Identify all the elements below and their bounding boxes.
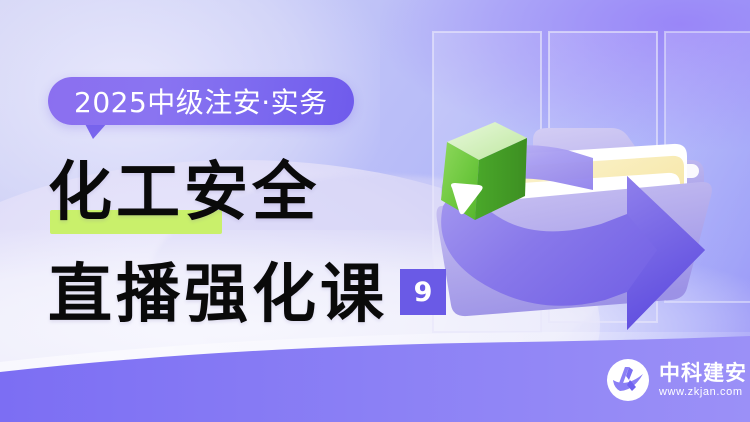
circular-emblem-icon bbox=[606, 358, 650, 402]
course-series-badge: 2025中级注安·实务 bbox=[48, 77, 354, 125]
brand-name: 中科建安 bbox=[659, 362, 747, 384]
episode-number-badge: 9 bbox=[400, 269, 446, 315]
course-series-label: 2025中级注安·实务 bbox=[74, 81, 328, 121]
course-banner: 2025中级注安·实务 化工安全 直播强化课 9 中科建安 www.zkjan.… bbox=[0, 0, 750, 422]
page-title-line-2: 直播强化课 bbox=[48, 263, 388, 327]
brand-logo: 中科建安 www.zkjan.com bbox=[606, 358, 747, 402]
page-title-line-1: 化工安全 bbox=[48, 161, 320, 225]
brand-url: www.zkjan.com bbox=[659, 387, 747, 398]
brand-logo-text: 中科建安 www.zkjan.com bbox=[659, 362, 747, 397]
episode-number-label: 9 bbox=[414, 277, 433, 308]
